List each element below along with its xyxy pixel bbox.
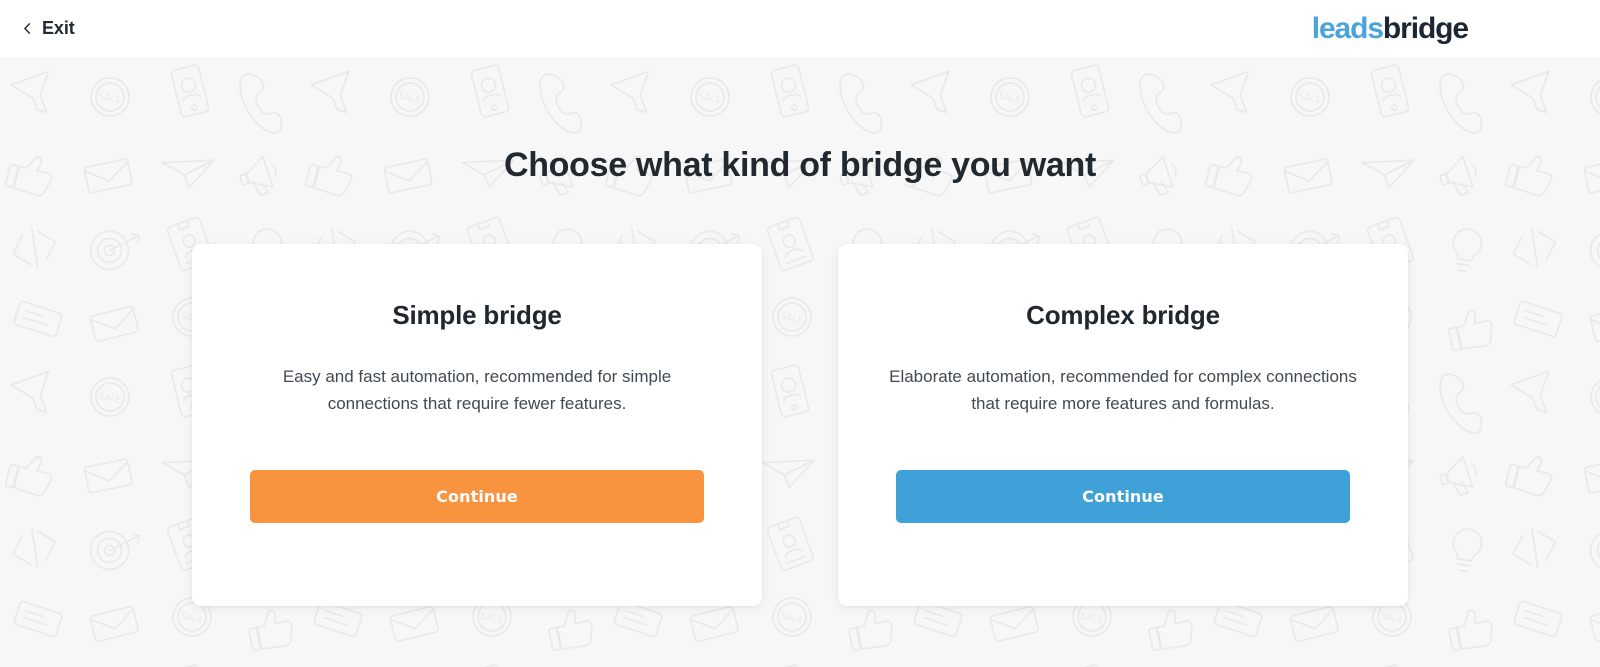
bridge-options-container: Simple bridge Easy and fast automation, … (0, 244, 1600, 606)
exit-button[interactable]: Exit (22, 18, 75, 39)
logo-leads-text: leads (1312, 12, 1383, 45)
card-title-simple: Simple bridge (392, 300, 561, 331)
main-content-area: Choose what kind of bridge you want Simp… (0, 57, 1600, 667)
card-complex-bridge[interactable]: Complex bridge Elaborate automation, rec… (838, 244, 1408, 606)
top-header-bar: Exit leadsbridge (0, 0, 1600, 57)
card-description-simple: Easy and fast automation, recommended fo… (242, 363, 712, 417)
continue-button-complex[interactable]: Continue (896, 470, 1350, 523)
card-simple-bridge[interactable]: Simple bridge Easy and fast automation, … (192, 244, 762, 606)
exit-label: Exit (42, 18, 75, 39)
card-title-complex: Complex bridge (1026, 300, 1220, 331)
leadsbridge-logo: leadsbridge (1312, 14, 1576, 44)
continue-button-simple[interactable]: Continue (250, 470, 704, 523)
card-description-complex: Elaborate automation, recommended for co… (888, 363, 1358, 417)
logo-bridge-text: bridge (1383, 12, 1468, 45)
chevron-left-icon (22, 23, 33, 34)
page-title: Choose what kind of bridge you want (0, 57, 1600, 185)
